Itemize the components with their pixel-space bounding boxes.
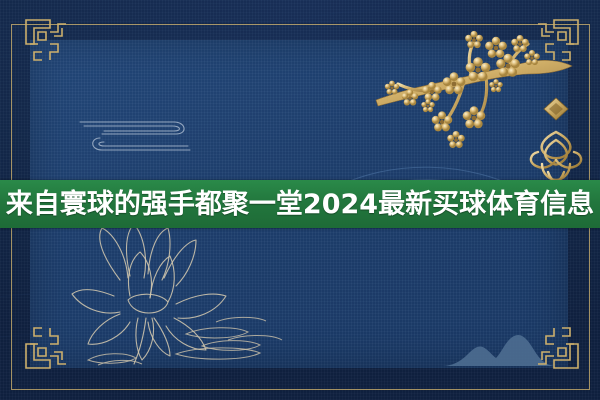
lotus-line-art bbox=[68, 222, 318, 368]
corner-key-pattern-top-right-icon bbox=[528, 18, 580, 70]
banner-image: 来自寰球的强手都聚一堂2024最新买球体育信息 bbox=[0, 0, 600, 400]
blossom bbox=[465, 31, 483, 48]
scroll-cloud-motif bbox=[78, 112, 198, 160]
title-band: 来自寰球的强手都聚一堂2024最新买球体育信息 bbox=[0, 180, 600, 228]
corner-key-pattern-bottom-right-icon bbox=[528, 318, 580, 370]
corner-key-pattern-top-left-icon bbox=[24, 18, 76, 70]
page-title: 来自寰球的强手都聚一堂2024最新买球体育信息 bbox=[6, 191, 594, 218]
corner-key-pattern-bottom-left-icon bbox=[24, 318, 76, 370]
